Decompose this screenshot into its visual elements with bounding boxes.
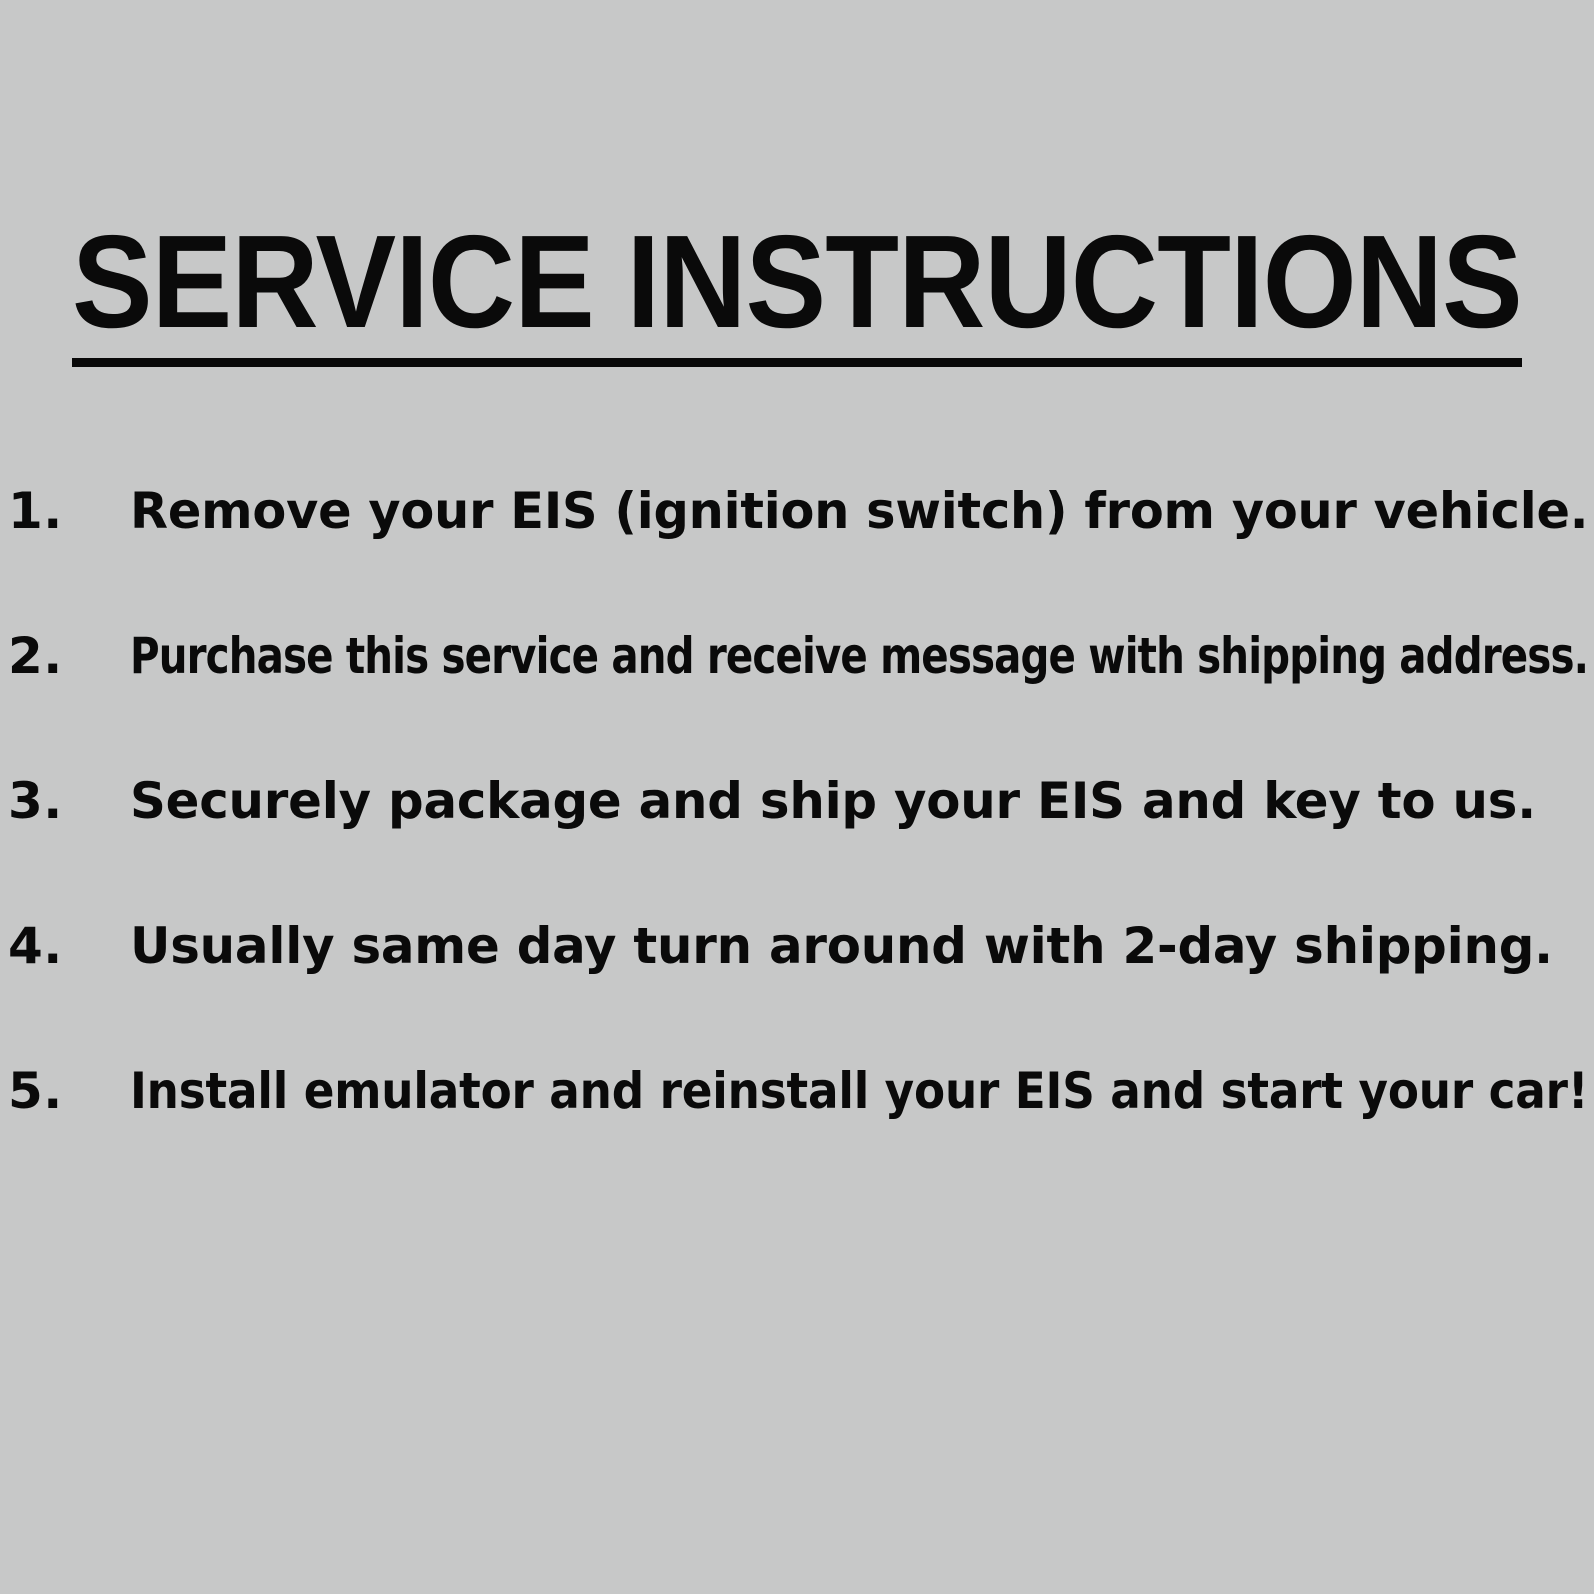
list-item-number: 3. <box>8 772 130 830</box>
list-item-text: Install emulator and reinstall your EIS … <box>130 1062 1588 1120</box>
list-item-number: 5. <box>8 1062 130 1120</box>
title-underline-rule <box>72 358 1522 367</box>
list-item: 4. Usually same day turn around with 2-d… <box>8 917 1594 1062</box>
list-item: 3. Securely package and ship your EIS an… <box>8 772 1594 917</box>
list-item: 5. Install emulator and reinstall your E… <box>8 1062 1594 1207</box>
list-item-text: Usually same day turn around with 2-day … <box>130 917 1588 975</box>
list-item-number: 4. <box>8 917 130 975</box>
list-item-text: Purchase this service and receive messag… <box>130 627 1588 685</box>
title-block: SERVICE INSTRUCTIONS <box>72 216 1524 367</box>
list-item-number: 2. <box>8 627 130 685</box>
list-item: 1. Remove your EIS (ignition switch) fro… <box>8 482 1594 627</box>
list-item-number: 1. <box>8 482 130 540</box>
service-instructions-page: SERVICE INSTRUCTIONS 1. Remove your EIS … <box>0 0 1594 1594</box>
list-item: 2. Purchase this service and receive mes… <box>8 627 1594 772</box>
page-title: SERVICE INSTRUCTIONS <box>72 216 1401 348</box>
list-item-text: Securely package and ship your EIS and k… <box>130 772 1588 830</box>
list-item-text: Remove your EIS (ignition switch) from y… <box>130 482 1588 540</box>
instruction-list: 1. Remove your EIS (ignition switch) fro… <box>8 482 1594 1207</box>
